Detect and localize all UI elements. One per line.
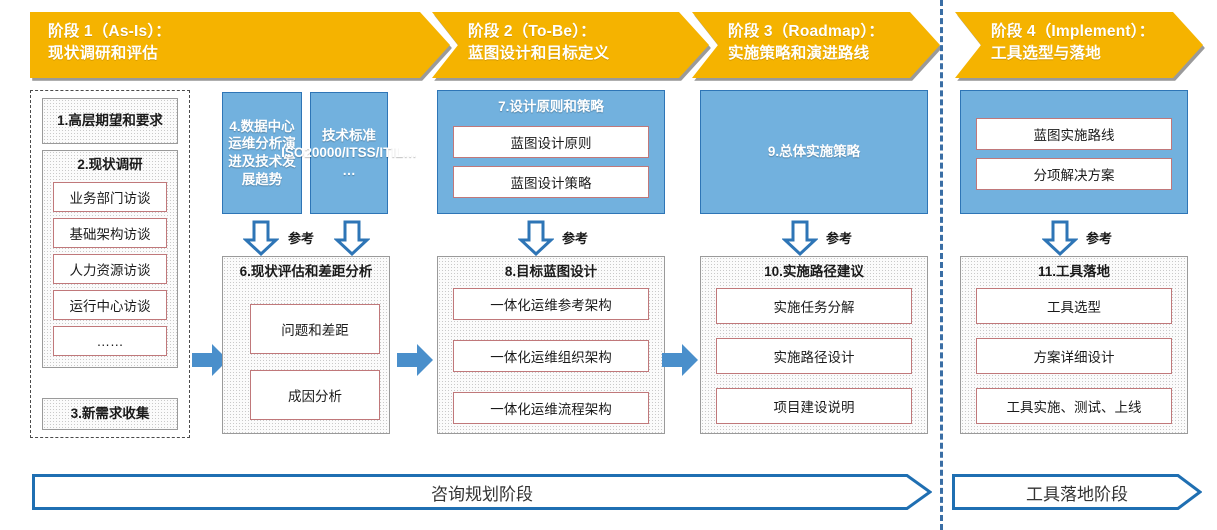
reference-down-arrow-col5-icon [1042,220,1078,256]
box-8-item-1[interactable]: 一体化运维组织架构 [453,340,649,372]
box-1-high-level-expectations[interactable]: 1.高层期望和要求 [42,98,178,144]
box-8-title: 8.目标蓝图设计 [438,264,664,281]
box-11-item-1[interactable]: 方案详细设计 [976,338,1172,374]
phase-3-line2: 实施策略和演进路线 [728,43,940,65]
box-8-item-2[interactable]: 一体化运维流程架构 [453,392,649,424]
box-6-item-0[interactable]: 问题和差距 [250,304,380,354]
box-10-item-0-label: 实施任务分解 [774,296,855,316]
bottom-banner-left-label: 咨询规划阶段 [431,480,533,505]
box-7-item-1[interactable]: 蓝图设计策略 [453,166,649,198]
box-7-item-0[interactable]: 蓝图设计原则 [453,126,649,158]
reference-label-col5: 参考 [1086,228,1112,247]
box-col5-blue-item-0[interactable]: 蓝图实施路线 [976,118,1172,150]
phase-banner-4-body: 阶段 4（Implement）： 工具选型与落地 [955,12,1203,78]
phase-4-line1: 阶段 4（Implement）： [991,21,1203,43]
box-2-item-2[interactable]: 人力资源访谈 [53,254,167,284]
box-11-item-1-label: 方案详细设计 [1034,346,1115,366]
phase-1-line1: 阶段 1（As-Is）： [48,21,450,43]
box-2-item-1[interactable]: 基础架构访谈 [53,218,167,248]
reference-down-arrow-right-icon [334,220,370,256]
box-2-item-2-label: 人力资源访谈 [70,259,151,279]
box-10-item-2-label: 项目建设说明 [774,396,855,416]
box-11-title: 11.工具落地 [961,264,1187,281]
box-11-item-0[interactable]: 工具选型 [976,288,1172,324]
phase-2-line2: 蓝图设计和目标定义 [468,43,709,65]
box-2-item-1-label: 基础架构访谈 [70,223,151,243]
diagram-canvas: 阶段 1（As-Is）： 现状调研和评估 阶段 2（To-Be）： 蓝图设计和目… [0,0,1217,530]
box-10-item-2[interactable]: 项目建设说明 [716,388,912,424]
phase-1-line2: 现状调研和评估 [48,43,450,65]
bottom-banner-right-label: 工具落地阶段 [1026,480,1128,505]
box-9-overall-implementation-strategy[interactable]: 9.总体实施策略 [700,90,928,214]
box-10-item-1[interactable]: 实施路径设计 [716,338,912,374]
reference-down-arrow-col4-icon [782,220,818,256]
box-8-item-2-label: 一体化运维流程架构 [490,398,612,418]
phase-3-line1: 阶段 3（Roadmap）： [728,21,940,43]
box-tech-standards[interactable]: 技术标准ISO20000/ITSS/ITIL… … [310,92,388,214]
box-1-label: 1.高层期望和要求 [57,113,163,130]
reference-label-col3: 参考 [562,228,588,247]
reference-down-arrow-left-icon [243,220,279,256]
box-10-item-1-label: 实施路径设计 [774,346,855,366]
bottom-banner-consulting-phase[interactable]: 咨询规划阶段 [32,474,932,510]
box-2-item-3-label: 运行中心访谈 [70,295,151,315]
box-2-item-0[interactable]: 业务部门访谈 [53,182,167,212]
box-7-item-1-label: 蓝图设计策略 [511,172,592,192]
reference-label-col4: 参考 [826,228,852,247]
box-col5-blue-item-0-label: 蓝图实施路线 [1034,124,1115,144]
box-2-item-4[interactable]: …… [53,326,167,356]
flow-arrow-3-to-4-icon [660,340,700,380]
box-blueprint-implementation-group[interactable] [960,90,1188,214]
phase-banner-3-body: 阶段 3（Roadmap）： 实施策略和演进路线 [692,12,940,78]
box-6-item-0-label: 问题和差距 [281,319,349,339]
box-2-item-3[interactable]: 运行中心访谈 [53,290,167,320]
box-2-title: 2.现状调研 [43,157,177,174]
phase-banner-3[interactable]: 阶段 3（Roadmap）： 实施策略和演进路线 [692,12,940,78]
bottom-banner-tool-landing-phase[interactable]: 工具落地阶段 [952,474,1202,510]
box-6-title: 6.现状评估和差距分析 [223,264,389,281]
phase-banner-2[interactable]: 阶段 2（To-Be）： 蓝图设计和目标定义 [432,12,709,78]
box-11-item-0-label: 工具选型 [1047,296,1101,316]
phase-separator-divider [940,0,943,530]
box-3-new-requirements[interactable]: 3.新需求收集 [42,398,178,430]
box-8-item-1-label: 一体化运维组织架构 [490,346,612,366]
phase-4-line2: 工具选型与落地 [991,43,1203,65]
flow-arrow-2-to-3-icon [395,340,435,380]
box-10-item-0[interactable]: 实施任务分解 [716,288,912,324]
phase-banner-1[interactable]: 阶段 1（As-Is）： 现状调研和评估 [30,12,450,78]
box-col5-blue-item-1-label: 分项解决方案 [1034,164,1115,184]
box-6-item-1-label: 成因分析 [288,385,342,405]
reference-down-arrow-col3-icon [518,220,554,256]
box-7-title: 7.设计原则和策略 [438,98,664,116]
box-2-item-4-label: …… [97,334,124,349]
box-8-item-0-label: 一体化运维参考架构 [490,294,612,314]
box-8-item-0[interactable]: 一体化运维参考架构 [453,288,649,320]
box-3-label: 3.新需求收集 [71,406,150,423]
box-col5-blue-item-1[interactable]: 分项解决方案 [976,158,1172,190]
box-7-item-0-label: 蓝图设计原则 [511,132,592,152]
box-tech-standards-label: 技术标准ISO20000/ITSS/ITIL… … [281,127,417,180]
box-11-item-2-label: 工具实施、测试、上线 [1007,396,1142,416]
box-10-title: 10.实施路径建议 [701,264,927,281]
box-6-item-1[interactable]: 成因分析 [250,370,380,420]
phase-2-line1: 阶段 2（To-Be）： [468,21,709,43]
reference-label-col2: 参考 [288,228,314,247]
box-9-label: 9.总体实施策略 [768,143,860,161]
box-11-item-2[interactable]: 工具实施、测试、上线 [976,388,1172,424]
phase-banner-4[interactable]: 阶段 4（Implement）： 工具选型与落地 [955,12,1203,78]
phase-banner-1-body: 阶段 1（As-Is）： 现状调研和评估 [30,12,450,78]
box-2-item-0-label: 业务部门访谈 [70,187,151,207]
phase-banner-2-body: 阶段 2（To-Be）： 蓝图设计和目标定义 [432,12,709,78]
